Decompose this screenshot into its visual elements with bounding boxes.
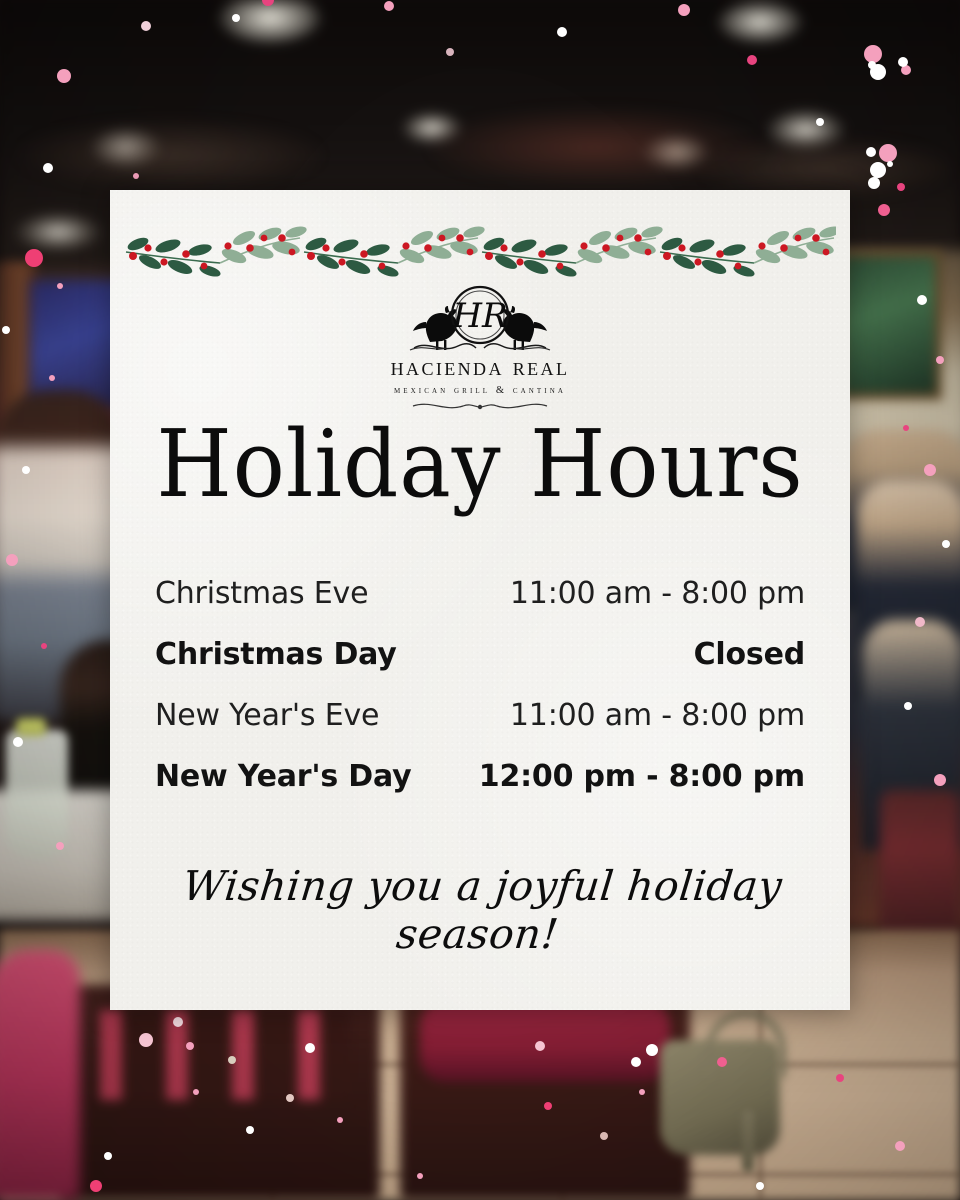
confetti-dot (104, 1152, 112, 1160)
confetti-dot (193, 1089, 199, 1095)
closing-message: Wishing you a joyful holiday season! (105, 862, 855, 958)
confetti-dot (917, 295, 927, 305)
logo-monogram-with-roosters: HR (380, 282, 580, 354)
confetti-dot (756, 1182, 764, 1190)
hours-time-value: 11:00 am - 8:00 pm (510, 576, 805, 611)
handbag-tassel (742, 1110, 754, 1172)
confetti-dot (6, 554, 18, 566)
confetti-dot (57, 69, 71, 83)
confetti-dot (915, 617, 925, 627)
confetti-dot (895, 1141, 905, 1151)
holiday-hours-list: Christmas Eve11:00 am - 8:00 pmChristmas… (155, 576, 805, 820)
dining-chair-left-slats (100, 1010, 350, 1100)
confetti-dot (747, 55, 757, 65)
hours-row: New Year's Eve11:00 am - 8:00 pm (155, 698, 805, 759)
rooster-left-icon (413, 306, 457, 350)
confetti-dot (228, 1056, 236, 1064)
holiday-hours-card: HR Hacienda Real Mexican Grill & Cantina… (110, 190, 850, 1010)
confetti-dot (2, 326, 10, 334)
pink-jacket-on-chair (0, 950, 80, 1200)
confetti-dot (600, 1132, 608, 1140)
confetti-dot (898, 57, 908, 67)
confetti-dot (544, 1102, 552, 1110)
restaurant-logo: HR Hacienda Real Mexican Grill & Cantina (110, 282, 850, 414)
page-title: Holiday Hours (136, 418, 824, 511)
confetti-dot (942, 540, 950, 548)
holiday-hours-poster: HR Hacienda Real Mexican Grill & Cantina… (0, 0, 960, 1200)
hours-day-label: New Year's Eve (155, 698, 379, 733)
logo-tagline: Mexican Grill & Cantina (394, 385, 566, 396)
hours-row: Christmas Eve11:00 am - 8:00 pm (155, 576, 805, 637)
dining-chair-center-cushion (420, 1000, 670, 1082)
hours-row: New Year's Day12:00 pm - 8:00 pm (155, 759, 805, 820)
confetti-dot (173, 1017, 183, 1027)
confetti-dot (22, 466, 30, 474)
ceiling-fan-left (20, 120, 320, 190)
confetti-dot (631, 1057, 641, 1067)
wall-artwork (836, 250, 942, 400)
hours-row: Christmas DayClosed (155, 637, 805, 698)
confetti-dot (936, 356, 944, 364)
confetti-dot (878, 204, 890, 216)
rooster-right-icon (503, 306, 547, 350)
logo-monogram-text: HR (451, 296, 507, 336)
confetti-dot (904, 702, 912, 710)
confetti-dot (934, 774, 946, 786)
confetti-dot (337, 1117, 343, 1123)
confetti-dot (717, 1057, 727, 1067)
confetti-dot (13, 737, 23, 747)
confetti-dot (57, 283, 63, 289)
hours-time-value: 12:00 pm - 8:00 pm (479, 759, 805, 794)
confetti-dot (232, 14, 240, 22)
confetti-dot (446, 48, 454, 56)
confetti-dot (417, 1173, 423, 1179)
confetti-dot (897, 183, 905, 191)
confetti-dot (678, 4, 690, 16)
confetti-dot (41, 643, 47, 649)
confetti-dot (868, 61, 876, 69)
hours-day-label: Christmas Eve (155, 576, 368, 611)
confetti-dot (286, 1094, 294, 1102)
confetti-dot (141, 21, 151, 31)
hours-day-label: New Year's Day (155, 759, 411, 794)
confetti-dot (816, 118, 824, 126)
hours-time-value: 11:00 am - 8:00 pm (510, 698, 805, 733)
confetti-dot (639, 1089, 645, 1095)
margarita-glass (6, 730, 68, 860)
confetti-dot (646, 1044, 658, 1056)
confetti-dot (90, 1180, 102, 1192)
hours-day-label: Christmas Day (155, 637, 397, 672)
confetti-dot (49, 375, 55, 381)
holly-garland-border (124, 212, 836, 284)
confetti-dot (557, 27, 567, 37)
logo-restaurant-name: Hacienda Real (391, 352, 570, 382)
confetti-dot (139, 1033, 153, 1047)
confetti-dot (305, 1043, 315, 1053)
confetti-dot (879, 144, 897, 162)
ceiling-fan-right (700, 138, 950, 198)
confetti-dot (887, 161, 893, 167)
confetti-dot (836, 1074, 844, 1082)
confetti-dot (924, 464, 936, 476)
confetti-dot (870, 162, 886, 178)
confetti-dot (186, 1042, 194, 1050)
confetti-dot (868, 177, 880, 189)
confetti-dot (25, 249, 43, 267)
confetti-dot (903, 425, 909, 431)
confetti-dot (384, 1, 394, 11)
confetti-dot (43, 163, 53, 173)
confetti-dot (56, 842, 64, 850)
hours-time-value: Closed (694, 637, 805, 672)
confetti-dot (535, 1041, 545, 1051)
confetti-dot (133, 173, 139, 179)
confetti-dot (866, 147, 876, 157)
lime-garnish (16, 718, 46, 736)
confetti-dot (246, 1126, 254, 1134)
